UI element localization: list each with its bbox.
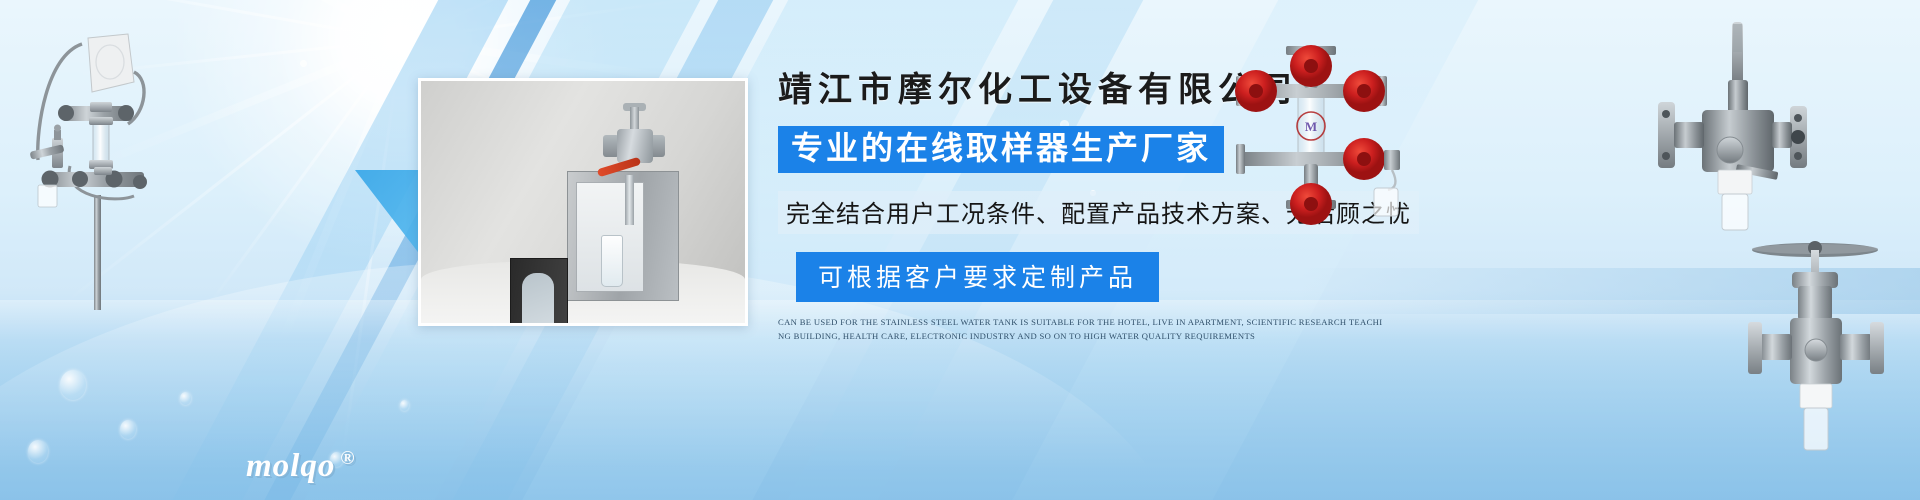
bubble-decor [300,60,307,67]
water-droplet [180,392,191,405]
photo-sampler-cabinet [567,171,679,301]
water-droplet [400,400,409,411]
cross-sampler-render: M [1212,40,1412,235]
gate-valve-render [1720,228,1910,483]
product-photo [418,78,748,326]
registered-trademark-icon: ® [340,448,355,469]
water-droplet [28,440,48,463]
photo-cabinet-door [510,258,568,326]
photo-door-window [522,273,554,326]
photo-sample-bottle [601,235,623,287]
angle-valve-render [1640,18,1830,253]
brand-logo: molqo® [246,448,356,485]
headline-badge: 专业的在线取样器生产厂家 [778,126,1224,173]
water-droplet [60,370,86,400]
svg-text:M: M [1305,119,1317,134]
left-equipment-render [10,20,190,315]
promo-banner: 靖江市摩尔化工设备有限公司 专业的在线取样器生产厂家 完全结合用户工况条件、配置… [0,0,1920,500]
photo-valve-downtube [625,175,634,225]
water-droplet [120,420,136,439]
custom-product-badge: 可根据客户要求定制产品 [796,252,1159,302]
photo-valve-head [603,107,665,177]
brand-logo-text: molqo [246,448,335,484]
fineprint-description: CAN BE USED FOR THE STAINLESS STEEL WATE… [778,316,1386,344]
